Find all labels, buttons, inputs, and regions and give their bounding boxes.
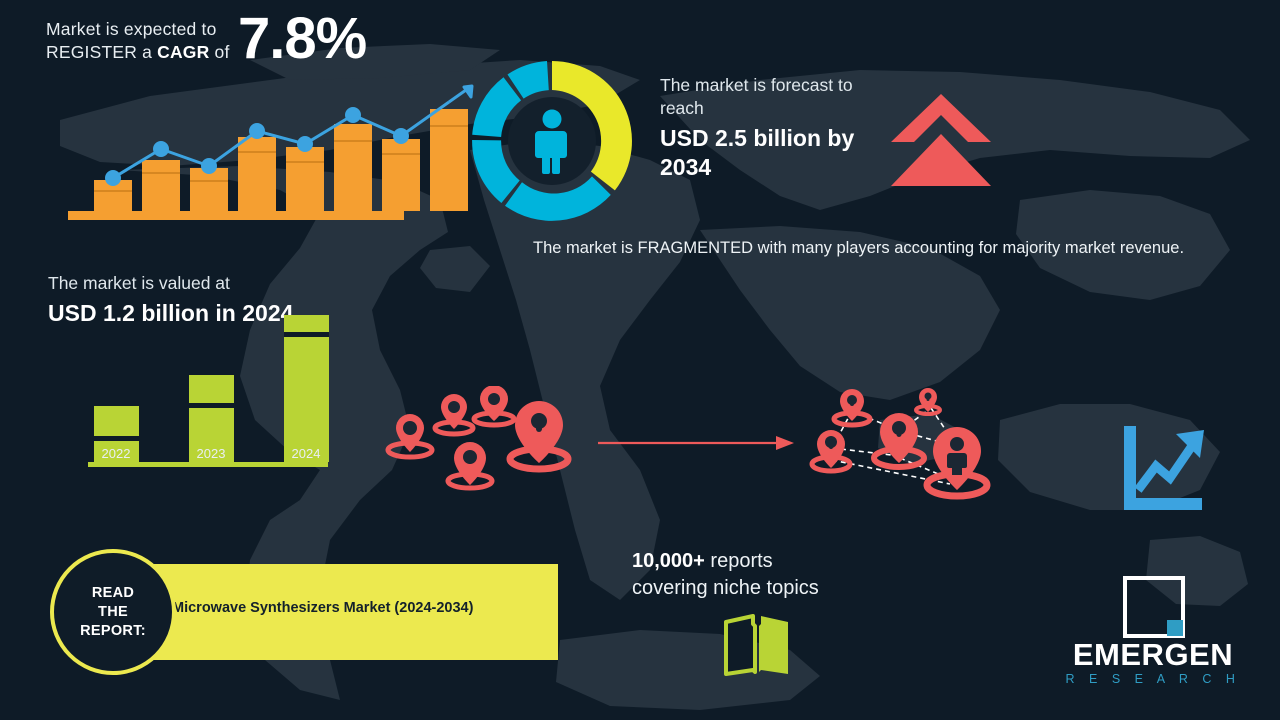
growth-trend-bar-chart	[68, 84, 408, 220]
market-share-donut-chart	[466, 55, 638, 227]
cagr-value: 7.8%	[238, 10, 366, 68]
green-chart-label-2023: 2023	[181, 446, 241, 461]
reports-line-2: covering niche topics	[632, 575, 892, 602]
report-title[interactable]: Microwave Synthesizers Market (2024-2034…	[172, 600, 552, 616]
map-pin-cluster-icon	[382, 386, 582, 496]
emergen-research-logo: EMERGEN R E S E A R C H	[1058, 576, 1248, 686]
reports-line-1-rest: reports	[705, 550, 773, 572]
reports-count-block: 10,000+ reports covering niche topics	[632, 548, 892, 602]
market-value-bar-chart: 2022 2023 2024	[88, 296, 333, 471]
open-book-icon	[722, 612, 792, 676]
trend-line-overlay	[68, 84, 488, 220]
green-chart-label-2024: 2024	[276, 446, 336, 461]
cagr-keyword: CAGR	[157, 42, 209, 62]
read-the-report-label: READTHEREPORT:	[80, 584, 146, 641]
cta-line-1: READ	[92, 585, 134, 601]
green-chart-label-2022: 2022	[86, 446, 146, 461]
double-chevron-up-icon	[886, 92, 996, 188]
map-pin-network-icon	[800, 386, 1015, 506]
cta-line-2: THE	[98, 604, 128, 620]
forecast-value: USD 2.5 billion by 2034	[660, 124, 895, 182]
reports-line-1: 10,000+ reports	[632, 548, 892, 575]
right-arrow-icon	[596, 432, 796, 454]
forecast-label: The market is forecast to reach	[660, 74, 895, 120]
line-graph-up-icon	[1118, 424, 1210, 514]
green-chart-baseline	[88, 462, 328, 467]
square-outline-icon	[1123, 576, 1185, 638]
infographic-canvas: Market is expected to REGISTER a CAGR of…	[0, 0, 1280, 720]
cagr-line-2-pre: REGISTER a	[46, 42, 157, 62]
fragmented-statement: The market is FRAGMENTED with many playe…	[533, 237, 1223, 260]
fragmented-text: The market is FRAGMENTED with many playe…	[533, 237, 1223, 260]
reports-count: 10,000+	[632, 550, 705, 572]
logo-subtitle: R E S E A R C H	[1058, 672, 1248, 686]
read-the-report-badge[interactable]: READTHEREPORT:	[50, 549, 176, 675]
green-bar-2024	[284, 315, 329, 462]
cta-line-3: REPORT:	[80, 623, 146, 639]
logo-wordmark: EMERGEN	[1058, 638, 1248, 672]
valuation-label: The market is valued at	[48, 272, 313, 295]
cagr-line-2-post: of	[209, 42, 229, 62]
forecast-block: The market is forecast to reach USD 2.5 …	[660, 74, 895, 182]
